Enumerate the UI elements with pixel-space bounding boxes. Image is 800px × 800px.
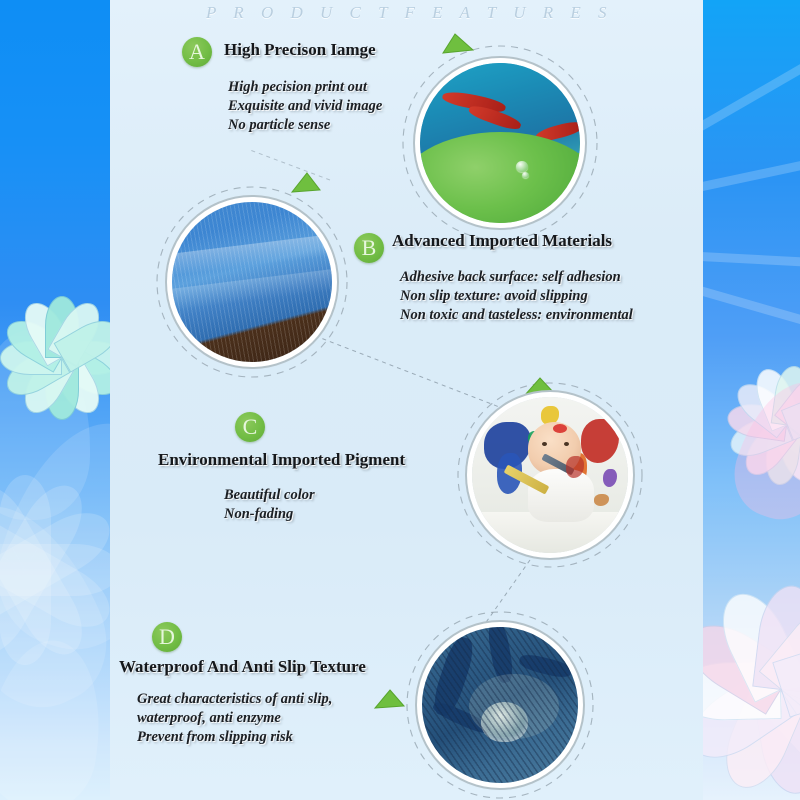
feature-lines-a: High pecision print out Exquisite and vi…	[228, 78, 382, 135]
feature-line-a-2: Exquisite and vivid image	[228, 97, 382, 116]
feature-photo-c	[472, 397, 628, 553]
feature-line-b-2: Non slip texture: avoid slipping	[400, 287, 633, 306]
feature-heading-a: High Precison Iamge	[224, 40, 376, 60]
right-decorative-band	[703, 0, 800, 800]
feature-line-c-2: Non-fading	[224, 505, 315, 524]
feature-line-a-3: No particle sense	[228, 116, 382, 135]
feature-photo-a	[420, 63, 580, 223]
feature-line-d-1: Great characteristics of anti slip,	[137, 690, 332, 709]
feature-badge-d: D	[152, 622, 182, 652]
feature-lines-d: Great characteristics of anti slip, wate…	[137, 690, 332, 747]
feature-line-b-1: Adhesive back surface: self adhesion	[400, 268, 633, 287]
feature-heading-d: Waterproof And Anti Slip Texture	[119, 657, 366, 677]
feature-line-c-1: Beautiful color	[224, 486, 315, 505]
feature-lines-c: Beautiful color Non-fading	[224, 486, 315, 524]
feature-line-d-2: waterproof, anti enzyme	[137, 709, 332, 728]
feature-line-d-3: Prevent from slipping risk	[137, 728, 332, 747]
feature-line-a-1: High pecision print out	[228, 78, 382, 97]
feature-line-b-3: Non toxic and tasteless: environmental	[400, 306, 633, 325]
product-features-infographic: P R O D U C T F E A T U R E S	[0, 0, 800, 800]
feature-badge-c: C	[235, 412, 265, 442]
feature-badge-a: A	[182, 37, 212, 67]
feature-lines-b: Adhesive back surface: self adhesion Non…	[400, 268, 633, 325]
page-title: P R O D U C T F E A T U R E S	[110, 3, 703, 23]
feature-badge-b: B	[354, 233, 384, 263]
feature-photo-d	[422, 627, 578, 783]
feature-heading-b: Advanced Imported Materials	[392, 231, 612, 251]
feature-heading-c: Environmental Imported Pigment	[158, 450, 405, 470]
left-decorative-band	[0, 0, 110, 800]
feature-photo-b	[172, 202, 332, 362]
